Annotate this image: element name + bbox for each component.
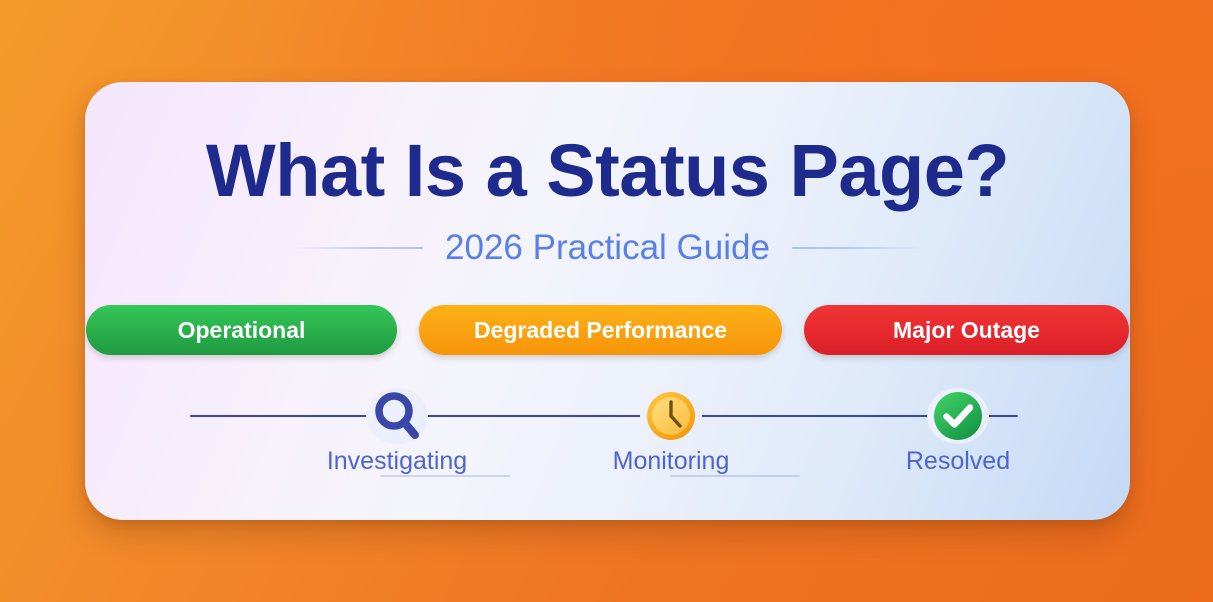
timeline-label-link-1	[380, 475, 510, 477]
timeline-step-label-monitoring: Monitoring	[586, 449, 756, 474]
status-badge-operational[interactable]: Operational	[86, 305, 397, 355]
timeline-step-label-investigating: Investigating	[312, 449, 482, 474]
page-subtitle: 2026 Practical Guide	[445, 230, 770, 265]
status-badge-major-outage[interactable]: Major Outage	[804, 305, 1129, 355]
timeline-step-label-resolved: Resolved	[873, 449, 1043, 474]
timeline-label-link-2	[670, 475, 800, 477]
status-badge-degraded-performance[interactable]: Degraded Performance	[419, 305, 782, 355]
subtitle-rule-left	[293, 247, 423, 249]
check-circle-icon	[873, 388, 1043, 444]
subtitle-rule-right	[792, 247, 922, 249]
timeline-step-monitoring[interactable]: Monitoring	[586, 388, 756, 474]
timeline-step-resolved[interactable]: Resolved	[873, 388, 1043, 474]
timeline-step-investigating[interactable]: Investigating	[312, 388, 482, 474]
page-title: What Is a Status Page?	[85, 134, 1130, 208]
clock-icon	[586, 388, 756, 444]
magnifier-icon	[312, 388, 482, 444]
subtitle-row: 2026 Practical Guide	[85, 230, 1130, 265]
page-background: What Is a Status Page? 2026 Practical Gu…	[0, 0, 1213, 602]
status-page-card: What Is a Status Page? 2026 Practical Gu…	[85, 82, 1130, 520]
status-pill-row: Operational Degraded Performance Major O…	[85, 305, 1130, 355]
incident-timeline: Investigating	[190, 388, 1018, 488]
